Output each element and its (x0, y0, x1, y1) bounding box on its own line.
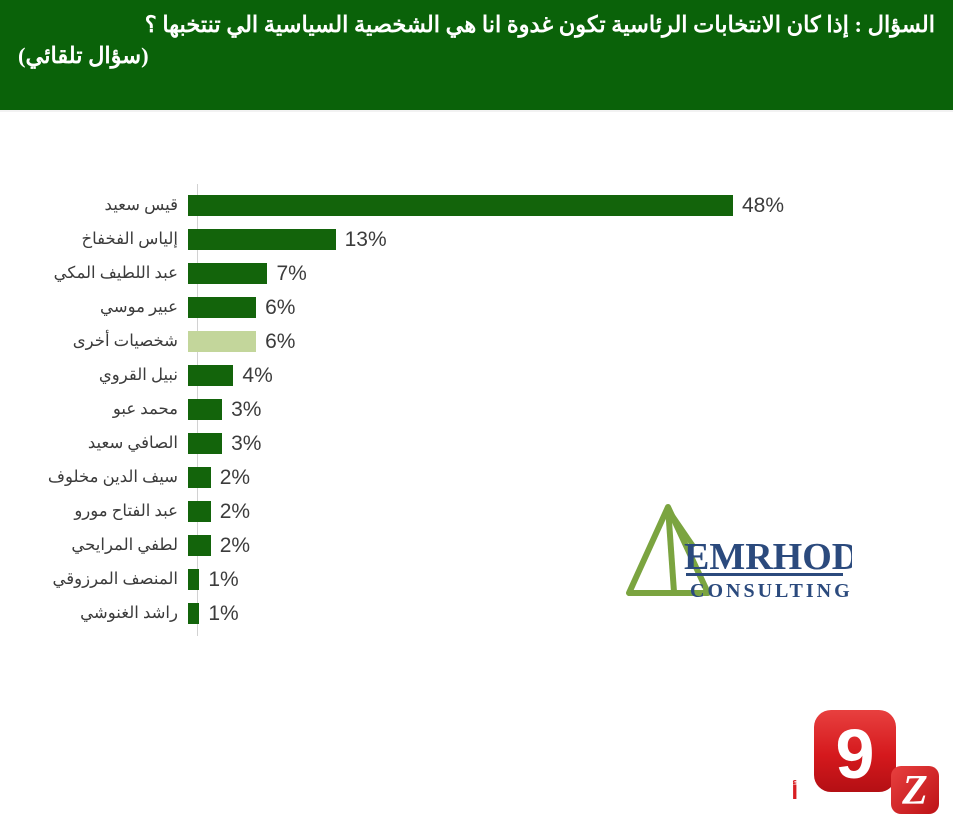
bar-row: قيس سعيد48% (0, 188, 953, 222)
bar-fill (188, 433, 222, 454)
bar-track: 4% (188, 358, 953, 392)
bar-row: شخصيات أخرى6% (0, 324, 953, 358)
bar-category-label: محمد عبو (0, 400, 188, 418)
bar-row: نبيل القروي4% (0, 358, 953, 392)
bar-category-label: الصافي سعيد (0, 434, 188, 452)
bar-chart: قيس سعيد48%إلياس الفخفاخ13%عبد اللطيف ال… (0, 112, 953, 711)
bar-row: سيف الدين مخلوف2% (0, 460, 953, 494)
bar-value-label: 3% (231, 399, 261, 420)
bar-value-label: 2% (220, 535, 250, 556)
bar-fill (188, 365, 233, 386)
bar-value-label: 6% (265, 297, 295, 318)
bar-value-label: 6% (265, 331, 295, 352)
bar-category-label: نبيل القروي (0, 366, 188, 384)
bar-row: إلياس الفخفاخ13% (0, 222, 953, 256)
bar-track: 6% (188, 324, 953, 358)
bar-fill (188, 603, 199, 624)
emrhod-logo: EMRHOD CONSULTING (622, 495, 852, 610)
bar-value-label: 13% (345, 229, 387, 250)
bar-track: 7% (188, 256, 953, 290)
bar-category-label: عبير موسي (0, 298, 188, 316)
bar-track: 6% (188, 290, 953, 324)
svg-text:9: 9 (836, 715, 875, 793)
bar-value-label: 7% (276, 263, 306, 284)
bar-fill (188, 297, 256, 318)
bar-category-label: شخصيات أخرى (0, 332, 188, 350)
bar-fill (188, 229, 336, 250)
bar-row: محمد عبو3% (0, 392, 953, 426)
bar-value-label: 3% (231, 433, 261, 454)
bar-fill (188, 569, 199, 590)
bar-row: الصافي سعيد3% (0, 426, 953, 460)
bar-track: 3% (188, 426, 953, 460)
bar-category-label: عبد الفتاح مورو (0, 502, 188, 520)
bar-value-label: 2% (220, 501, 250, 522)
bar-category-label: سيف الدين مخلوف (0, 468, 188, 486)
bar-value-label: 1% (208, 569, 238, 590)
bar-value-label: 4% (242, 365, 272, 386)
question-line-2: (سؤال تلقائي) (18, 40, 935, 71)
bar-track: 13% (188, 222, 953, 256)
bar-track: 2% (188, 460, 953, 494)
bar-fill (188, 535, 211, 556)
bar-value-label: 48% (742, 195, 784, 216)
svg-text:Z: Z (901, 768, 928, 814)
bar-category-label: إلياس الفخفاخ (0, 230, 188, 248)
svg-text:CONSULTING: CONSULTING (690, 580, 852, 602)
bar-category-label: لطفي المرايحي (0, 536, 188, 554)
bar-fill (188, 331, 256, 352)
bar-fill (188, 263, 267, 284)
bar-track: 3% (188, 392, 953, 426)
channel-z-badge: Z (891, 766, 939, 814)
question-line-1: السؤال : إذا كان الانتخابات الرئاسية تكو… (18, 9, 935, 40)
svg-text:EMRHOD: EMRHOD (684, 536, 852, 578)
bar-category-label: المنصف المرزوقي (0, 570, 188, 588)
question-banner: السؤال : إذا كان الانتخابات الرئاسية تكو… (0, 0, 953, 110)
bar-row: عبد اللطيف المكي7% (0, 256, 953, 290)
bar-value-label: 1% (208, 603, 238, 624)
bar-track: 48% (188, 188, 953, 222)
bar-category-label: راشد الغنوشي (0, 604, 188, 622)
bar-category-label: عبد اللطيف المكي (0, 264, 188, 282)
bar-fill (188, 195, 733, 216)
bar-fill (188, 467, 211, 488)
bar-fill (188, 399, 222, 420)
bar-row: عبير موسي6% (0, 290, 953, 324)
svg-text:أخبار تونس: أخبار تونس (790, 780, 798, 804)
channel-nessma9-logo: 9 أخبار تونس Z (790, 706, 945, 818)
bar-category-label: قيس سعيد (0, 196, 188, 214)
bar-fill (188, 501, 211, 522)
bar-value-label: 2% (220, 467, 250, 488)
